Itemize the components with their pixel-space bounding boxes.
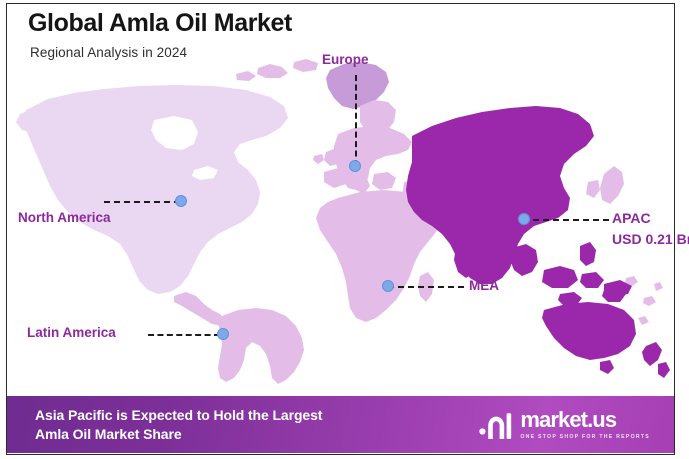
bottom-banner: Asia Pacific is Expected to Hold the Lar… [7,396,674,453]
page-subtitle: Regional Analysis in 2024 [30,45,292,60]
region-south-america [218,308,304,384]
region-korea [586,180,600,198]
header: Global Amla Oil Market Regional Analysis… [28,10,292,60]
region-new-zealand [642,342,670,378]
map-marker-latin-america[interactable] [217,328,229,340]
market-us-bar-chart-logo-icon [479,410,513,440]
leader-line-europe [355,75,357,166]
region-philippines [580,242,596,266]
region-tasmania [600,360,614,374]
logo-type: market.us ONE STOP SHOP FOR THE REPORTS [520,409,650,440]
page-title: Global Amla Oil Market [28,10,292,38]
banner-headline-line1: Asia Pacific is Expected to Hold the Lar… [35,407,322,423]
region-caribbean [222,284,244,294]
banner-headline: Asia Pacific is Expected to Hold the Lar… [35,406,322,444]
logo-wordmark: market.us [520,409,616,431]
map-marker-north-america[interactable] [175,195,187,207]
leader-line-latin-america [148,334,220,336]
region-apac-mainland [406,106,594,284]
region-british-isles [313,148,342,166]
infographic-card: Global Amla Oil Market Regional Analysis… [0,0,689,459]
leader-line-apac [523,219,609,221]
logo-tagline: ONE STOP SHOP FOR THE REPORTS [520,434,650,440]
region-japan [600,166,624,204]
region-label-apac-name: APAC [612,210,651,226]
map-marker-apac[interactable] [518,213,530,225]
market-us-logo[interactable]: market.us ONE STOP SHOP FOR THE REPORTS [479,409,656,440]
region-label-latin-america: Latin America [27,325,116,342]
map-marker-mea[interactable] [382,280,394,292]
region-label-mea: MEA [469,278,499,295]
region-central-america [174,292,226,326]
region-label-apac: APAC USD 0.21 Bn [612,210,689,248]
region-label-north-america: North America [18,210,111,227]
leader-line-mea [388,286,464,288]
region-value-apac: USD 0.21 Bn [612,231,689,249]
region-arctic-islands [236,59,318,81]
region-australia [542,302,636,360]
leader-line-north-america [104,201,180,203]
banner-headline-line2: Amla Oil Market Share [35,425,322,444]
map-marker-europe[interactable] [349,160,361,172]
region-label-europe: Europe [322,52,369,69]
